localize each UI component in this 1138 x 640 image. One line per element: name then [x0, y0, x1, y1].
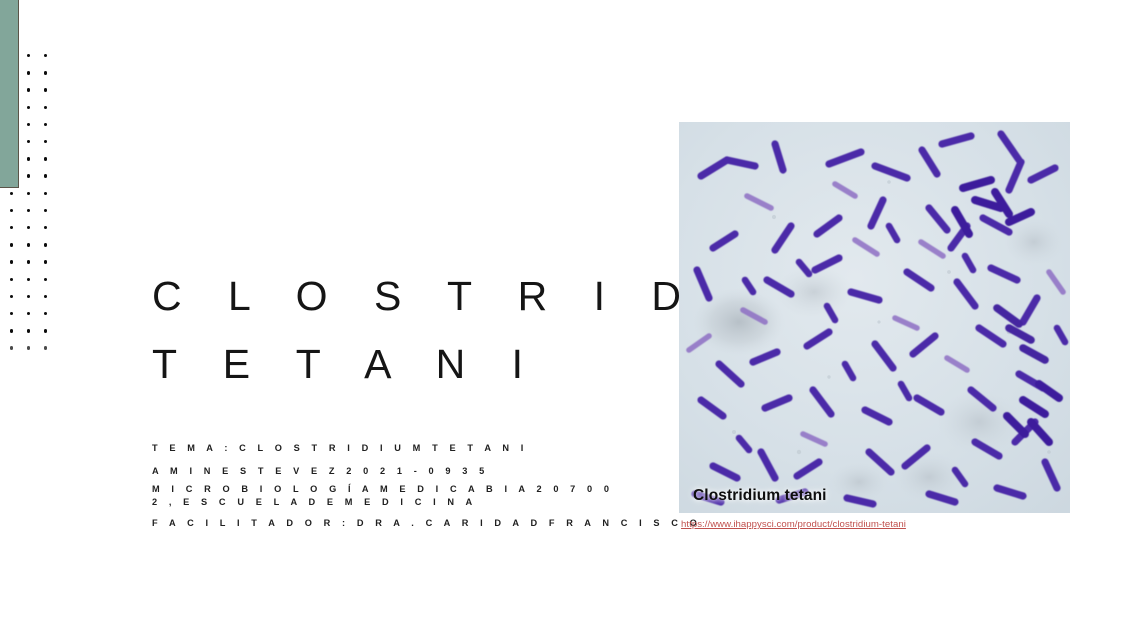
- decor-dot: [44, 88, 47, 91]
- decor-dot: [27, 106, 30, 109]
- decor-dot: [10, 209, 13, 212]
- title-line-2: T E T A N I: [152, 330, 632, 398]
- decor-dot: [27, 54, 30, 57]
- decor-dot: [27, 71, 30, 74]
- decor-dot: [10, 243, 13, 246]
- decor-dot: [27, 192, 30, 195]
- decor-dot: [27, 329, 30, 332]
- decor-dot: [10, 260, 13, 263]
- decor-dot: [10, 312, 13, 315]
- decor-dot: [44, 278, 47, 281]
- decor-dot: [27, 209, 30, 212]
- decor-dot: [44, 346, 47, 349]
- decor-dot: [27, 88, 30, 91]
- decor-dot: [44, 174, 47, 177]
- decor-dot: [44, 123, 47, 126]
- source-url-link[interactable]: https://www.ihappysci.com/product/clostr…: [681, 519, 906, 530]
- decor-dot: [44, 157, 47, 160]
- decor-dot: [27, 174, 30, 177]
- title-line-1: C L O S T R I D I U M: [152, 262, 632, 330]
- decor-dot: [27, 260, 30, 263]
- decor-dot: [10, 295, 13, 298]
- decor-dot: [27, 312, 30, 315]
- decor-dot: [44, 260, 47, 263]
- subtitle-line-tema: T E M A : C L O S T R I D I U M T E T A …: [152, 437, 622, 460]
- decor-dot: [27, 243, 30, 246]
- decor-dot: [44, 295, 47, 298]
- decor-dot: [10, 192, 13, 195]
- decor-dot: [44, 329, 47, 332]
- decor-dot: [27, 278, 30, 281]
- decor-dot: [27, 123, 30, 126]
- decor-dot: [27, 157, 30, 160]
- decor-dot: [10, 346, 13, 349]
- decor-dot: [27, 226, 30, 229]
- subtitle-line-facilitator: F A C I L I T A D O R : D R A . C A R I …: [152, 512, 622, 535]
- decor-dot: [44, 209, 47, 212]
- decor-dot: [44, 71, 47, 74]
- slide-title: C L O S T R I D I U M T E T A N I: [152, 262, 632, 398]
- decor-dot: [27, 295, 30, 298]
- decor-dot: [44, 226, 47, 229]
- decor-dot: [27, 346, 30, 349]
- decor-dot: [10, 329, 13, 332]
- decor-dot: [44, 312, 47, 315]
- gram-stain-illustration: [679, 122, 1070, 513]
- decor-dot: [27, 140, 30, 143]
- slide-subtitle: T E M A : C L O S T R I D I U M T E T A …: [152, 437, 622, 535]
- subtitle-line-course: M I C R O B I O L O G Í A M E D I C A B …: [152, 483, 622, 512]
- presentation-slide: C L O S T R I D I U M T E T A N I T E M …: [0, 0, 1138, 640]
- decor-dot: [44, 243, 47, 246]
- picture-caption: Clostridium tetani: [693, 487, 827, 505]
- decor-dot: [44, 106, 47, 109]
- micrograph-image: Clostridium tetani: [679, 122, 1070, 513]
- dot-grid-decoration: [0, 54, 60, 354]
- decor-dot: [44, 140, 47, 143]
- decor-dot: [44, 54, 47, 57]
- decor-dot: [44, 192, 47, 195]
- decor-dot: [10, 278, 13, 281]
- decor-dot: [10, 226, 13, 229]
- subtitle-line-author: A M I N E S T E V E Z 2 0 2 1 - 0 9 3 5: [152, 460, 622, 483]
